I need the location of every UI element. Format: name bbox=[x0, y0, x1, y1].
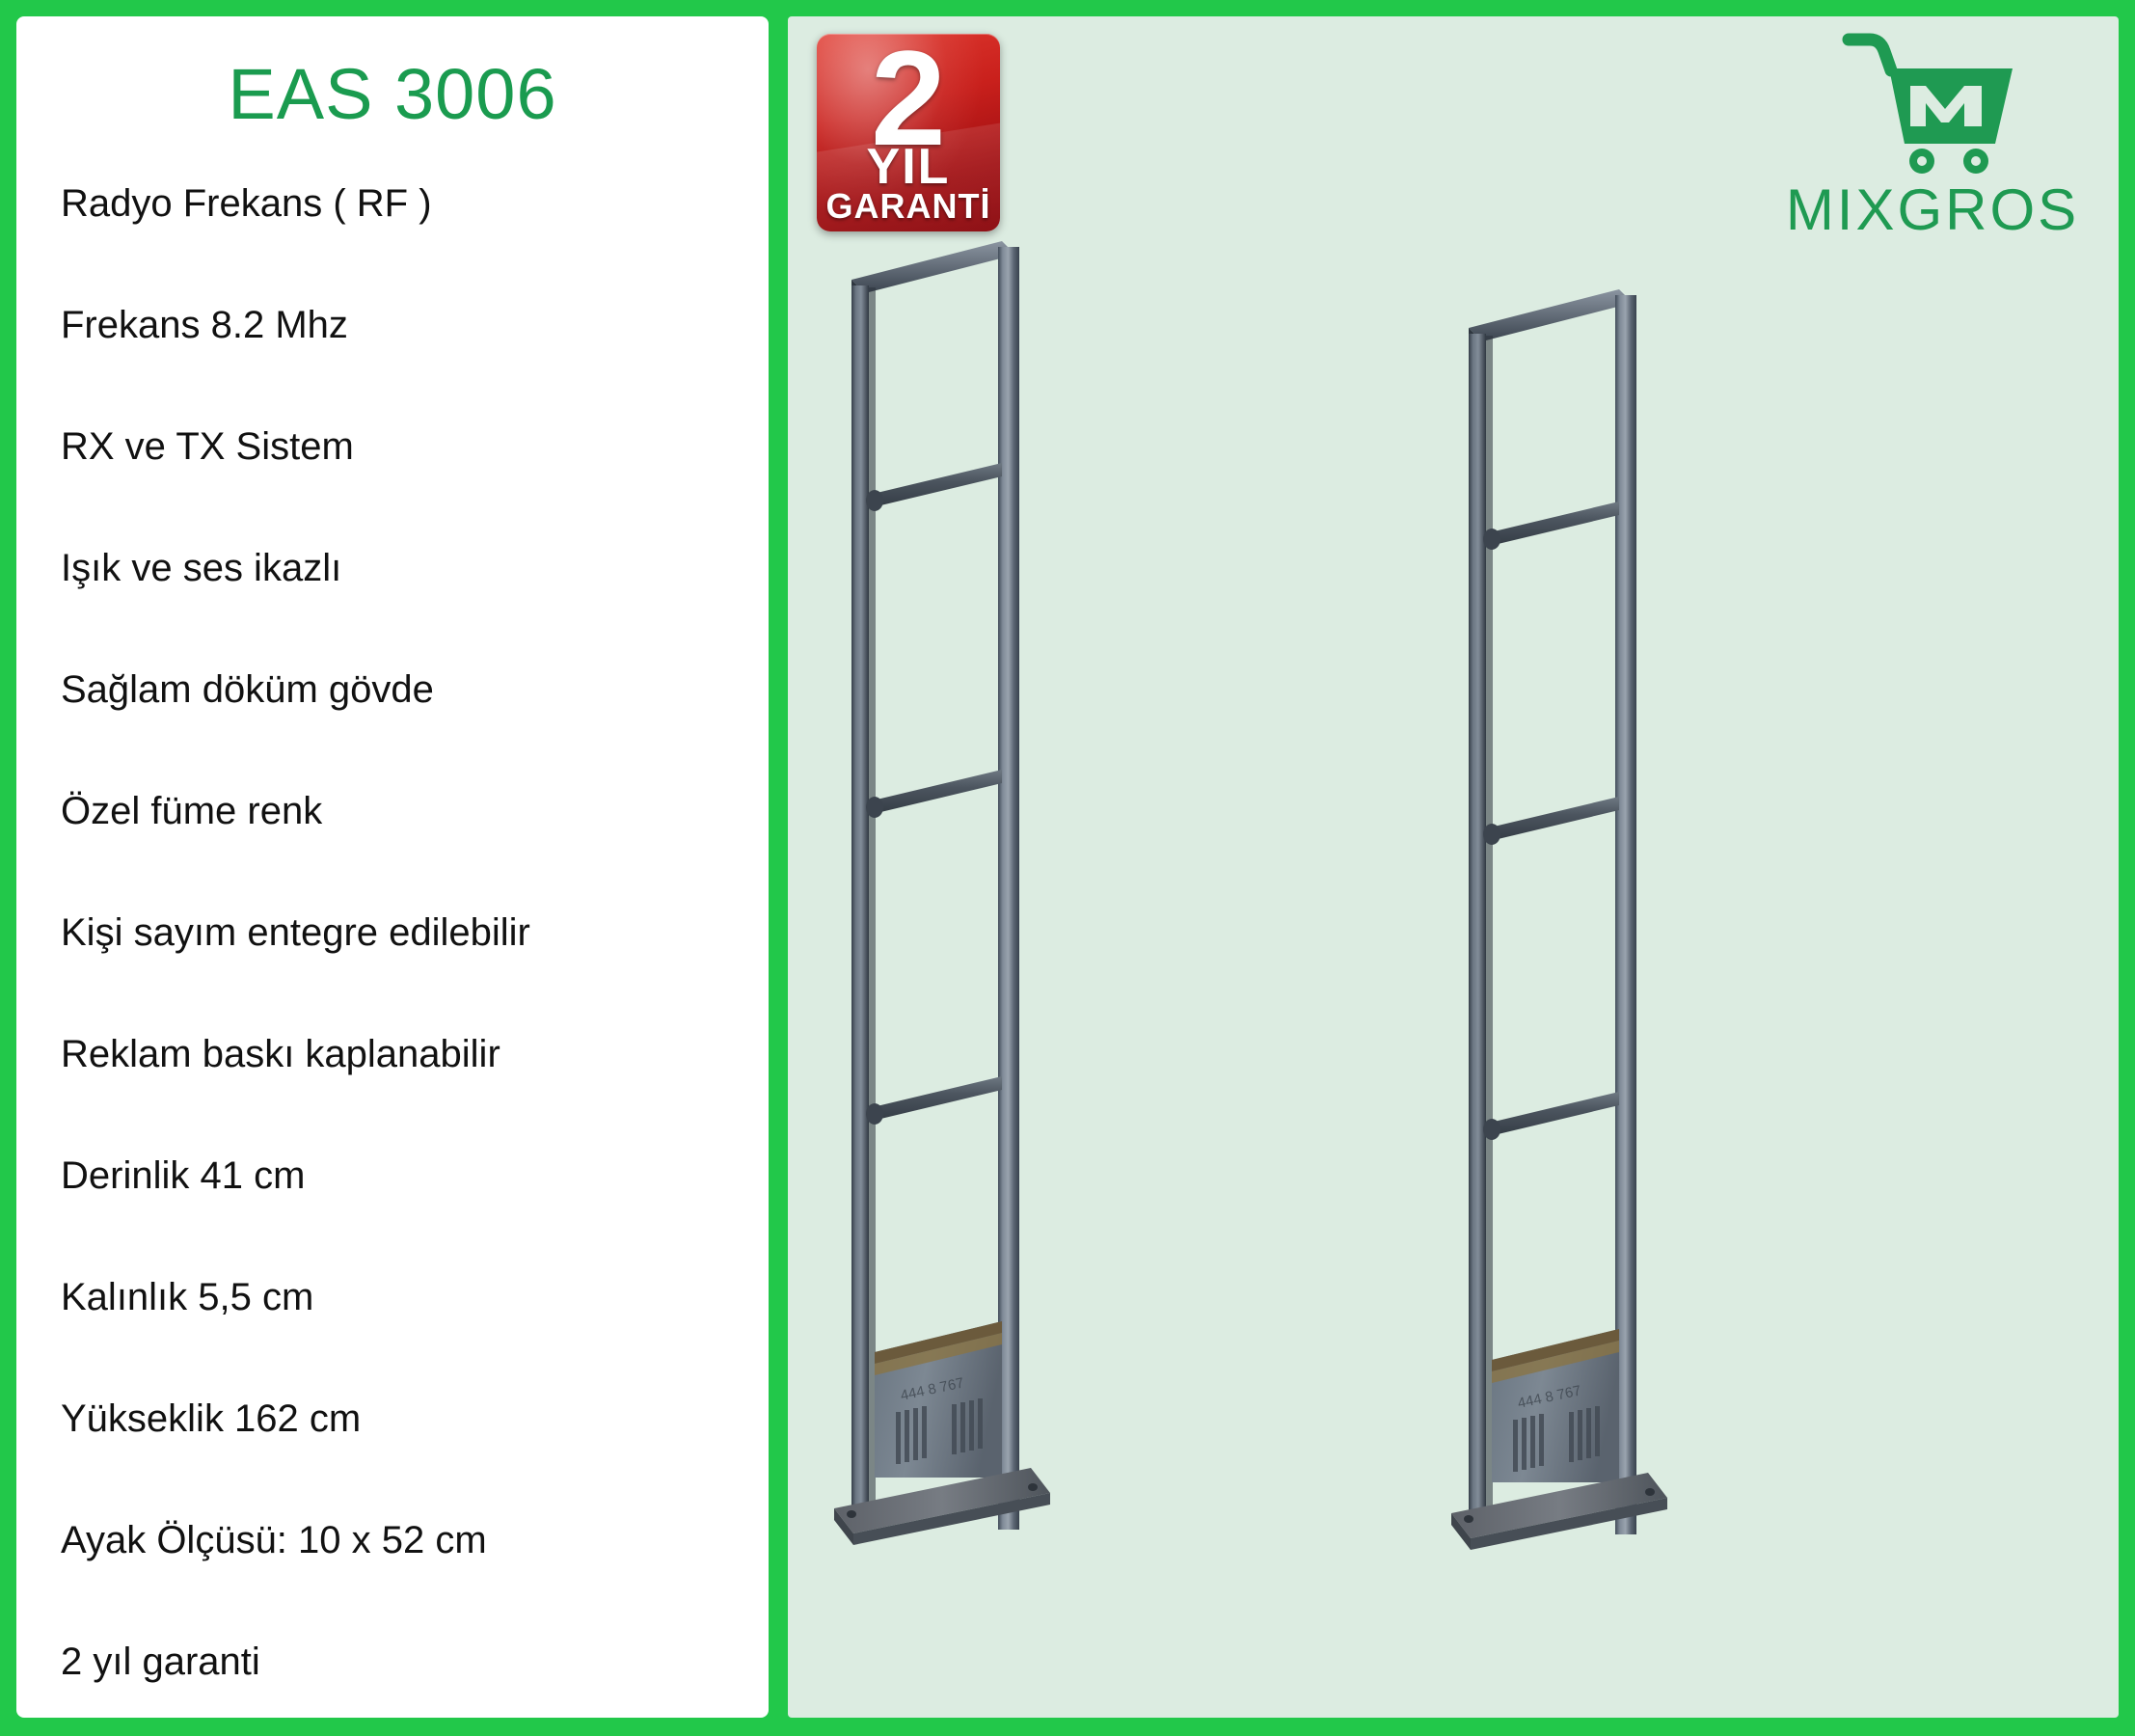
spec-item: Ayak Ölçüsü: 10 x 52 cm bbox=[61, 1521, 755, 1642]
page-title: EAS 3006 bbox=[16, 53, 769, 135]
product-spec-sheet: EAS 3006 Radyo Frekans ( RF )Frekans 8.2… bbox=[0, 0, 2135, 1736]
spec-item: RX ve TX Sistem bbox=[61, 427, 755, 549]
spec-item: Kişi sayım entegre edilebilir bbox=[61, 913, 755, 1035]
eas-antenna-tower-left: 444 8 767 bbox=[826, 204, 1116, 1632]
brand-logo: MIXGROS bbox=[1773, 30, 2092, 242]
brand-name: MIXGROS bbox=[1773, 176, 2092, 243]
spec-item: Kalınlık 5,5 cm bbox=[61, 1278, 755, 1399]
spec-item: Derinlik 41 cm bbox=[61, 1156, 755, 1278]
spec-item: 2 yıl garanti bbox=[61, 1642, 755, 1718]
eas-antenna-tower-right: 444 8 767 bbox=[1444, 253, 1733, 1632]
product-image-panel: 2 YIL GARANTİ MIXGROS bbox=[788, 16, 2119, 1718]
spec-item: Özel füme renk bbox=[61, 792, 755, 913]
spec-item: Radyo Frekans ( RF ) bbox=[61, 184, 755, 306]
shopping-cart-icon bbox=[1841, 30, 2024, 175]
spec-item: Yükseklik 162 cm bbox=[61, 1399, 755, 1521]
spec-item: Işık ve ses ikazlı bbox=[61, 549, 755, 670]
spec-item: Frekans 8.2 Mhz bbox=[61, 306, 755, 427]
warranty-badge: 2 YIL GARANTİ bbox=[817, 34, 1000, 231]
specification-list: Radyo Frekans ( RF )Frekans 8.2 MhzRX ve… bbox=[61, 184, 755, 1718]
warranty-badge-warranty-label: GARANTİ bbox=[817, 186, 1000, 227]
specification-card: EAS 3006 Radyo Frekans ( RF )Frekans 8.2… bbox=[16, 16, 769, 1718]
spec-item: Reklam baskı kaplanabilir bbox=[61, 1035, 755, 1156]
spec-item: Sağlam döküm gövde bbox=[61, 670, 755, 792]
